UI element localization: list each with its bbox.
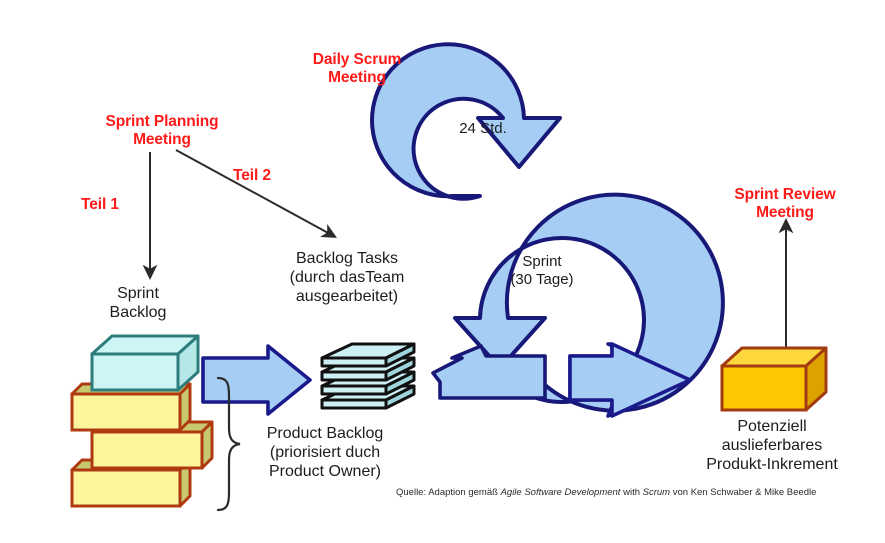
product-increment-block <box>722 348 826 410</box>
source-prefix: Quelle: Adaption gemäß <box>396 487 501 498</box>
label-product-increment: Potenziell auslieferbares Produkt-Inkrem… <box>682 418 862 475</box>
sprint-backlog-block <box>92 336 198 390</box>
label-sprint-backlog: Sprint Backlog <box>73 285 203 323</box>
source-citation: Quelle: Adaption gemäß Agile Software De… <box>396 487 816 498</box>
label-product-backlog: Product Backlog (priorisiert duch Produc… <box>225 425 425 482</box>
label-teil-2: Teil 2 <box>212 167 292 185</box>
label-daily-scrum-meeting: Daily Scrum Meeting <box>272 51 442 88</box>
backlog-tasks-paper-stack <box>322 344 414 408</box>
label-sprint-planning-meeting: Sprint Planning Meeting <box>62 113 262 150</box>
source-suffix: von Ken Schwaber & Mike Beedle <box>670 487 816 498</box>
source-book-title: Agile Software Development <box>501 487 621 498</box>
source-mid: with <box>620 487 642 498</box>
label-sprint-30-tage: Sprint (30 Tage) <box>462 253 622 288</box>
label-backlog-tasks: Backlog Tasks (durch dasTeam ausgearbeit… <box>258 250 436 307</box>
scrum-diagram-canvas: Daily Scrum Meeting Sprint Planning Meet… <box>0 0 885 543</box>
label-teil-1: Teil 1 <box>60 196 140 214</box>
label-sprint-review-meeting: Sprint Review Meeting <box>700 186 870 223</box>
source-book-title-2: Scrum <box>643 487 670 498</box>
label-24-stunden: 24 Std. <box>413 120 553 138</box>
